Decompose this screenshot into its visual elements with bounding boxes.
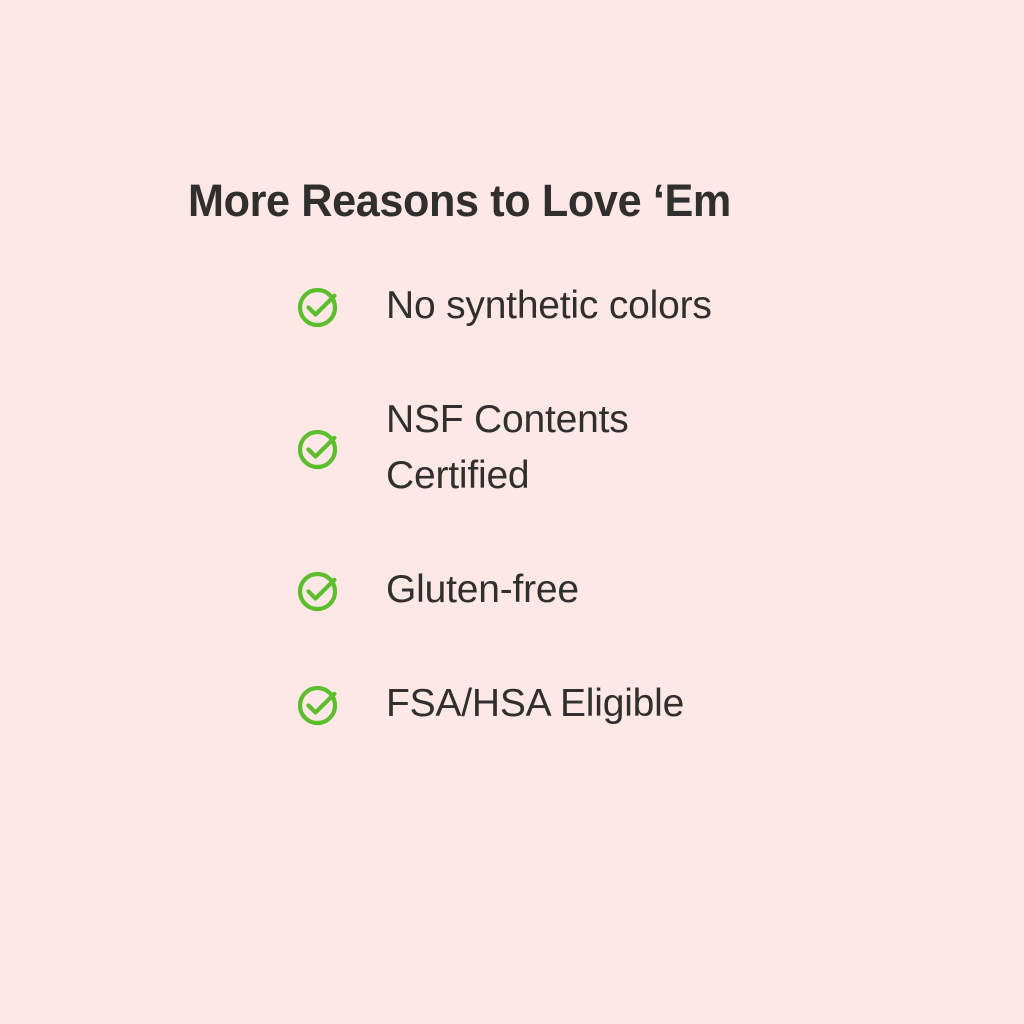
list-item: Gluten-free [296, 562, 956, 618]
page-title: More Reasons to Love ‘Em [188, 176, 731, 226]
benefits-list: No synthetic colors NSF Contents Certifi… [296, 278, 956, 732]
list-item: No synthetic colors [296, 278, 956, 334]
check-circle-icon [296, 283, 342, 329]
list-item-label: NSF Contents Certified [386, 392, 736, 504]
list-item-label: No synthetic colors [386, 278, 712, 334]
list-item-label: Gluten-free [386, 562, 579, 618]
list-item-label: FSA/HSA Eligible [386, 676, 684, 732]
check-circle-icon [296, 567, 342, 613]
list-item: FSA/HSA Eligible [296, 676, 956, 732]
list-item: NSF Contents Certified [296, 392, 956, 504]
check-circle-icon [296, 681, 342, 727]
check-circle-icon [296, 425, 342, 471]
benefits-card: More Reasons to Love ‘Em No synthetic co… [0, 0, 1024, 1024]
